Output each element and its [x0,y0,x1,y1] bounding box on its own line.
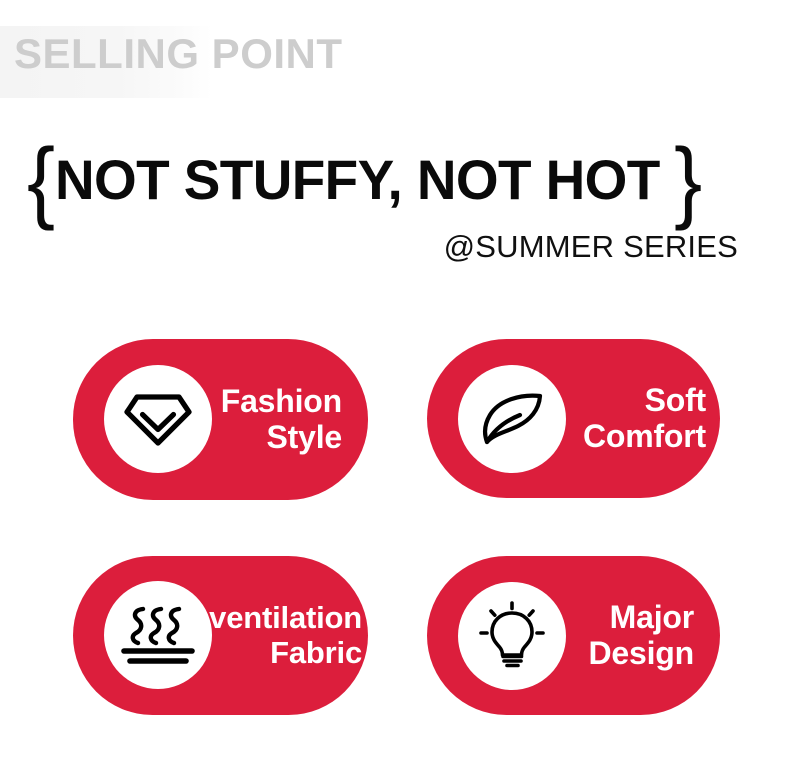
feature-card-label: Fashion Style [221,339,342,500]
feature-card-fashion-style[interactable]: Fashion Style [73,339,368,500]
feature-card-ventilation-fabric[interactable]: ventilation Fabric [73,556,368,715]
feature-card-label: Soft Comfort [583,339,706,498]
feature-card-label-line1: ventilation [209,601,362,636]
feature-card-soft-comfort[interactable]: Soft Comfort [427,339,720,498]
leaf-icon [458,365,566,473]
brace-close: } [674,135,700,226]
feature-card-label-line1: Soft [645,383,706,419]
diamond-gem-icon [104,365,212,473]
headline-text: NOT STUFFY, NOT HOT [55,152,660,208]
feature-card-label-line2: Design [589,636,695,672]
icon-disc [104,581,212,689]
feature-card-major-design[interactable]: Major Design [427,556,720,715]
lightbulb-icon [458,582,566,690]
feature-card-label-line2: Fabric [270,636,362,671]
feature-card-label: ventilation Fabric [209,556,362,715]
feature-card-label-line2: Comfort [583,419,706,455]
brace-open: { [27,135,53,226]
feature-card-label-line2: Style [267,420,343,456]
feature-card-label-line1: Major [610,600,694,636]
page-title: { NOT STUFFY, NOT HOT } [27,144,700,216]
icon-disc [458,582,566,690]
feature-card-grid: Fashion Style Soft Comfort [0,0,790,783]
subtitle: @SUMMER SERIES [444,231,738,262]
icon-disc [104,365,212,473]
eyebrow-label: SELLING POINT [14,33,343,75]
feature-card-label: Major Design [589,556,695,715]
icon-disc [458,365,566,473]
feature-card-label-line1: Fashion [221,384,342,420]
steam-ventilation-icon [104,581,212,689]
